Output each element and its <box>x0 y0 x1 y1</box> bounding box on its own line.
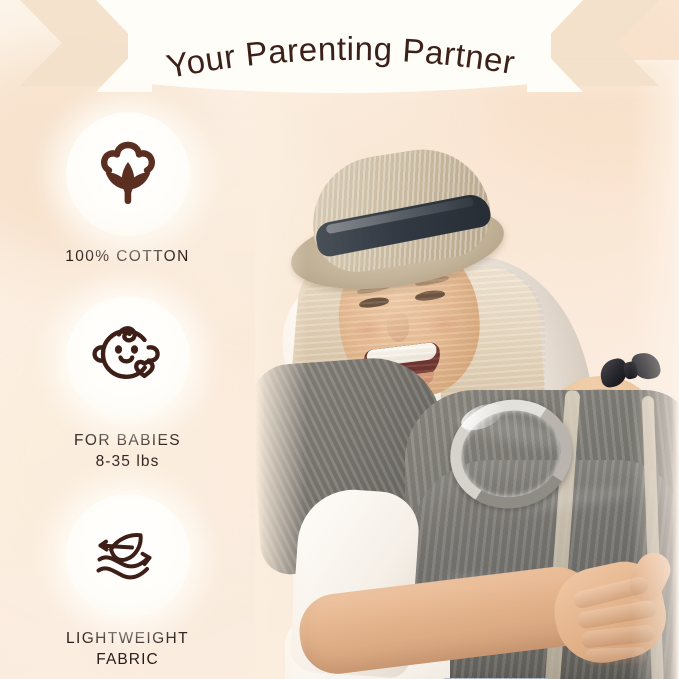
feature-icon-circle <box>66 494 190 618</box>
feature-label-text: FOR BABIES <box>74 432 181 449</box>
feature-cotton[interactable]: 100% COTTON <box>0 112 255 268</box>
feature-icon-circle <box>66 296 190 420</box>
product-feature-poster: Your Parenting Partner <box>0 0 679 679</box>
feature-label-cotton: 100% COTTON <box>0 247 255 268</box>
feature-label-babies: FOR BABIES 8-35 lbs <box>0 431 255 473</box>
photo-content <box>255 60 679 679</box>
feature-babies[interactable]: FOR BABIES 8-35 lbs <box>0 296 255 473</box>
feature-icon-circle <box>66 112 190 236</box>
feather-fabric-icon <box>86 514 170 598</box>
feature-sublabel-text: 8-35 lbs <box>0 452 255 473</box>
cotton-plant-icon <box>86 132 170 216</box>
finger <box>585 647 648 666</box>
feature-label-text: LIGHTWEIGHT <box>66 630 189 647</box>
feature-lightweight[interactable]: LIGHTWEIGHT FABRIC <box>0 494 255 671</box>
feature-list: 100% COTTON <box>0 0 255 679</box>
baby-face-icon <box>86 316 170 400</box>
feature-label-lightweight: LIGHTWEIGHT FABRIC <box>0 629 255 671</box>
feature-sublabel-text: FABRIC <box>0 650 255 671</box>
lifestyle-photo <box>255 60 679 679</box>
feature-label-text: 100% COTTON <box>65 248 189 265</box>
